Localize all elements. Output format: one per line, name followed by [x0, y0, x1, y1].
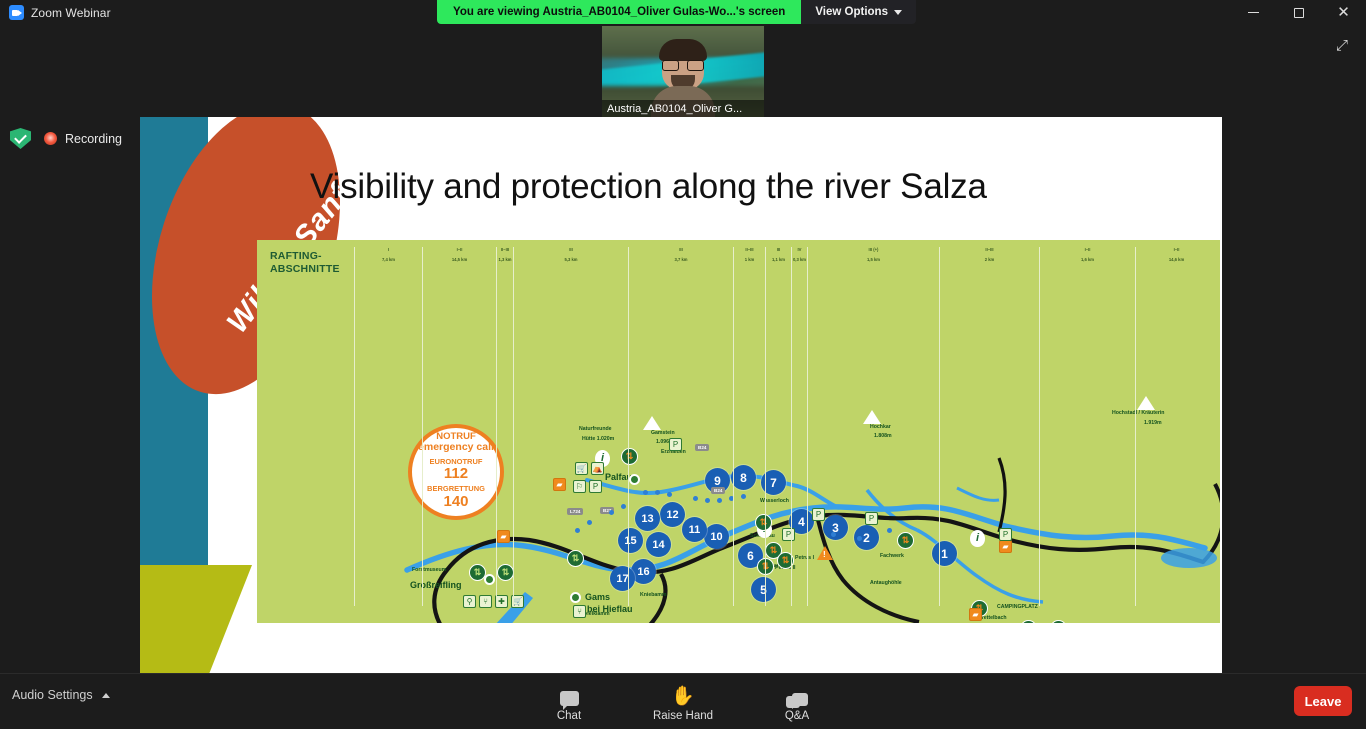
- river-marker-dot: [667, 492, 672, 497]
- recording-indicator[interactable]: Recording: [44, 132, 122, 146]
- signpost-wildalpen-icon: ▰: [969, 608, 982, 621]
- title-bar: Zoom Webinar You are viewing Austria_AB0…: [0, 0, 1366, 25]
- maximize-button[interactable]: [1276, 0, 1321, 25]
- emergency-title-en: emergency call: [418, 442, 494, 454]
- zoom-webinar-window: Zoom Webinar You are viewing Austria_AB0…: [0, 0, 1366, 729]
- screen-share-banner: You are viewing Austria_AB0104_Oliver Gu…: [437, 0, 916, 24]
- raft-point-fachwerk: ⇅: [897, 532, 914, 549]
- parking-fachwerk-icon: P: [865, 512, 878, 525]
- zoom-logo-icon: [9, 5, 24, 20]
- ruler-gridline: [422, 254, 423, 606]
- raise-hand-button[interactable]: ✋ Raise Hand: [645, 679, 721, 722]
- map-label-1-919m: 1.919m: [1144, 420, 1162, 426]
- section-marker-5[interactable]: 5: [751, 577, 776, 602]
- leave-button[interactable]: Leave: [1294, 686, 1352, 716]
- ruler-gridline: [354, 254, 355, 606]
- peak-hochkar-icon: [863, 410, 881, 424]
- close-icon: ✕: [1337, 5, 1350, 20]
- shared-slide: Wild & Sanft Visibility and protection a…: [140, 117, 1222, 673]
- view-options-button[interactable]: View Options: [801, 0, 916, 24]
- river-marker-dot: [587, 520, 592, 525]
- hand-icon: ✋: [671, 684, 695, 706]
- river-tag-b24b: B24: [711, 487, 725, 494]
- section-marker-10[interactable]: 10: [704, 524, 729, 549]
- parking-erzhalden-icon: P: [669, 438, 682, 451]
- river-marker-dot: [717, 498, 722, 503]
- facility-sport-palfau-icon: ⚐: [573, 480, 586, 493]
- ruler-gridline: [733, 254, 734, 606]
- mountain-rescue-number: 140: [443, 494, 468, 511]
- river-marker-dot: [857, 536, 862, 541]
- ruler-gridline: [496, 254, 497, 606]
- chat-button[interactable]: Chat: [531, 679, 607, 722]
- map-label-gamstein: Gamstein: [651, 430, 675, 436]
- viewing-label: You are viewing Austria_AB0104_Oliver Gu…: [437, 0, 801, 24]
- section-marker-8[interactable]: 8: [731, 465, 756, 490]
- map-label-hochstadl-kr-uterin: Hochstadl / Kräuterin: [1112, 410, 1164, 416]
- hazard-warning-icon: [817, 546, 833, 560]
- town-dot-palfau: [629, 474, 640, 485]
- parking-mitte-icon: P: [999, 528, 1012, 541]
- chat-bubble-icon: [560, 684, 579, 706]
- maximize-icon: [1294, 8, 1304, 18]
- recording-label: Recording: [65, 132, 122, 146]
- river-marker-dot: [887, 528, 892, 533]
- section-marker-14[interactable]: 14: [646, 532, 671, 557]
- facility-hiking-icon: ⚲: [463, 595, 476, 608]
- map-label-forstmuseum: Forstmuseum: [412, 567, 446, 573]
- glasses-icon: [662, 60, 704, 71]
- status-indicators: Recording: [10, 128, 122, 149]
- signpost-palfau-icon: ▰: [553, 478, 566, 491]
- parking-palfau-icon: P: [589, 480, 602, 493]
- section-marker-15[interactable]: 15: [618, 528, 643, 553]
- river-marker-dot: [831, 532, 836, 537]
- chevron-up-icon[interactable]: [102, 693, 110, 698]
- chevron-down-icon: [894, 10, 902, 15]
- minimize-icon: [1248, 12, 1259, 13]
- section-marker-12[interactable]: 12: [660, 502, 685, 527]
- ruler-gridline: [1039, 254, 1040, 606]
- facility-shop-palfau-icon: 🛒: [575, 462, 588, 475]
- ruler-gridline: [513, 254, 514, 606]
- rafting-map: RAFTING- ABSCHNITTE I7,4 kmI–II14,5 kmII…: [257, 240, 1220, 623]
- minimize-button[interactable]: [1231, 0, 1276, 25]
- map-label-petrus-i: Petrus I: [795, 555, 814, 561]
- close-button[interactable]: ✕: [1321, 0, 1366, 25]
- presenter-hair: [659, 39, 707, 61]
- chat-label: Chat: [557, 710, 581, 722]
- raft-point-schildnau: ⇅: [755, 514, 772, 531]
- parking-petrus-icon: P: [812, 508, 825, 521]
- river-marker-dot: [643, 490, 648, 495]
- river-marker-dot: [693, 496, 698, 501]
- map-label-campingplatz: CAMPINGPLATZ: [997, 604, 1038, 610]
- river-marker-dot: [741, 494, 746, 499]
- raft-point-krippau: ⇅: [469, 564, 486, 581]
- river-marker-dot: [705, 498, 710, 503]
- map-label-h-tte-1-020m: Hütte 1.020m: [582, 436, 614, 442]
- raft-point-gams: ⇅: [567, 550, 584, 567]
- raise-hand-label: Raise Hand: [653, 710, 713, 722]
- map-label-fachwerk: Fachwerk: [880, 553, 904, 559]
- facility-restaurant-icon: ⑂: [479, 595, 492, 608]
- info-icon-mitte[interactable]: i: [970, 530, 985, 547]
- meeting-toolbar: Audio Settings Chat ✋ Raise Hand Q&A Lea…: [0, 673, 1366, 729]
- participant-name-label: Austria_AB0104_Oliver G...: [602, 100, 764, 118]
- river-tag-l724: L724: [567, 508, 583, 515]
- facility-camp-palfau-icon: ⛺: [591, 462, 604, 475]
- town-dot-grossreifling: [484, 574, 495, 585]
- river-marker-dot: [575, 528, 580, 533]
- app-identity: Zoom Webinar: [0, 5, 111, 20]
- view-options-label: View Options: [815, 6, 888, 18]
- section-marker-13[interactable]: 13: [635, 506, 660, 531]
- map-label-antaugh-hle: Antaughöhle: [870, 580, 902, 586]
- record-dot-icon: [44, 132, 57, 145]
- map-label-naturfreunde: Naturfreunde: [579, 426, 612, 432]
- map-label-gro-reifling: Großreifling: [410, 580, 462, 590]
- brand-lime-shape: [140, 565, 252, 673]
- peak-gamstein-icon: [643, 416, 661, 430]
- map-label-1-808m: 1.808m: [874, 433, 892, 439]
- map-waterways-roads: [257, 240, 1220, 623]
- river-marker-dot: [621, 504, 626, 509]
- raft-point-weißenbach: ⇅: [497, 564, 514, 581]
- app-title: Zoom Webinar: [31, 6, 111, 20]
- qa-button[interactable]: Q&A: [759, 679, 835, 722]
- ruler-gridline: [765, 254, 766, 606]
- raft-point-erzhalden: ⇅: [621, 448, 638, 465]
- section-marker-17[interactable]: 17: [610, 566, 635, 591]
- section-marker-1[interactable]: 1: [932, 541, 957, 566]
- ruler-gridline: [807, 254, 808, 606]
- river-marker-dot: [655, 490, 660, 495]
- toolbar-actions: Chat ✋ Raise Hand Q&A: [531, 679, 835, 722]
- presenter-video-thumbnail[interactable]: Austria_AB0104_Oliver G...: [602, 26, 764, 118]
- signpost-mitte-icon: ▰: [999, 540, 1012, 553]
- peak-hochstadl-icon: [1137, 396, 1155, 410]
- map-label-hochkar: Hochkar: [870, 424, 891, 430]
- signpost-grossreifling-icon: ▰: [497, 530, 510, 543]
- euro-emergency-number: 112: [444, 466, 468, 483]
- page-title: Visibility and protection along the rive…: [310, 167, 1192, 207]
- facility-restaurant-gams-icon: ⑂: [573, 605, 586, 618]
- section-marker-11[interactable]: 11: [682, 517, 707, 542]
- encryption-shield-icon[interactable]: [10, 128, 31, 149]
- qa-label: Q&A: [785, 710, 809, 722]
- qa-bubbles-icon: [787, 684, 808, 706]
- town-dot-gams: [570, 592, 581, 603]
- ruler-gridline: [791, 254, 792, 606]
- ruler-gridline: [939, 254, 940, 606]
- window-controls: ✕: [1231, 0, 1366, 25]
- ruler-gridline: [1135, 254, 1136, 606]
- map-label-kniebamm: Kniebamm: [640, 592, 667, 598]
- parking-schildnau-icon: P: [782, 528, 795, 541]
- river-marker-dot: [609, 510, 614, 515]
- audio-settings-label: Audio Settings: [12, 688, 93, 702]
- audio-settings-button[interactable]: Audio Settings: [12, 688, 110, 702]
- map-label-gams: Gams: [585, 592, 610, 602]
- expand-video-icon[interactable]: ⤢: [1328, 32, 1356, 58]
- river-tag-b24a: B24: [695, 444, 709, 451]
- ruler-gridline: [628, 254, 629, 606]
- section-marker-3[interactable]: 3: [823, 515, 848, 540]
